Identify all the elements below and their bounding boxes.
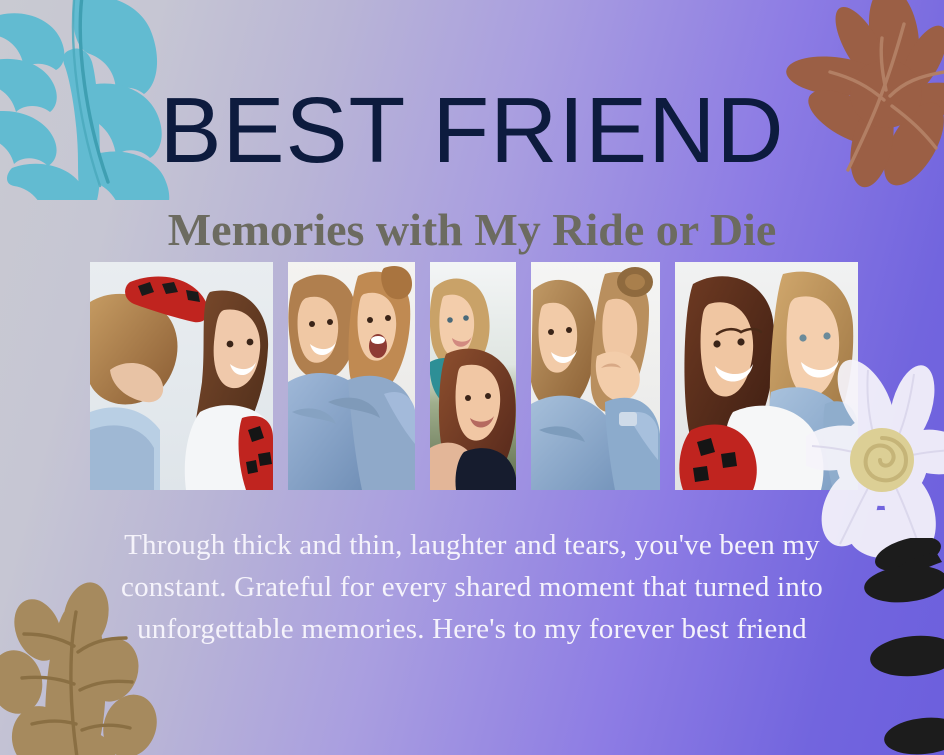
page-subtitle: Memories with My Ride or Die xyxy=(0,202,944,258)
photo-item xyxy=(288,262,415,490)
poster-canvas: BESTFRIEND Memories with My Ride or Die xyxy=(0,0,944,755)
title-word-best: BEST xyxy=(159,78,406,182)
photo-item xyxy=(90,262,273,490)
photo-item xyxy=(531,262,660,490)
page-title: BESTFRIEND xyxy=(0,84,944,177)
body-paragraph: Through thick and thin, laughter and tea… xyxy=(78,524,866,650)
photo-item xyxy=(430,262,516,490)
title-word-friend: FRIEND xyxy=(432,78,784,182)
photo-gallery xyxy=(90,262,856,490)
photo-item xyxy=(675,262,858,490)
black-leaf-icon xyxy=(862,538,944,608)
